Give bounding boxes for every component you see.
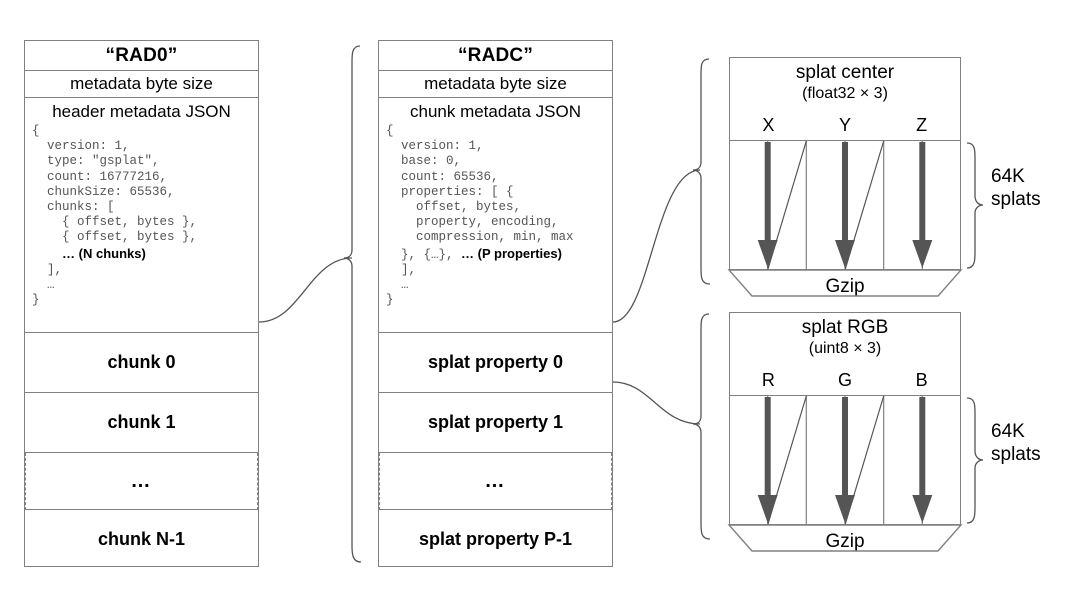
rad0-json-code: { version: 1, type: "gsplat", count: 167… xyxy=(25,124,258,308)
chunk-row-label: splat property 0 xyxy=(428,352,563,373)
rad0-magic-label: “RAD0” xyxy=(106,45,178,67)
rad0-byte-size-label: metadata byte size xyxy=(70,74,213,94)
splat-center-subtitle: (float32 × 3) xyxy=(730,84,960,103)
splat-center-count-line1: 64K xyxy=(991,165,1041,188)
radc-magic-label: “RADC” xyxy=(458,45,533,67)
file-row-label: chunk N-1 xyxy=(98,529,185,550)
splat-rgb-count-line1: 64K xyxy=(991,420,1041,443)
channel-label-z: Z xyxy=(883,115,960,136)
splat-rgb-channel-labels: R G B xyxy=(730,370,960,391)
rad0-byte-size-row: metadata byte size xyxy=(25,71,258,98)
splat-rgb-panel: splat RGB (uint8 × 3) R G B Gzip xyxy=(729,312,961,537)
splat-center-panel: splat center (float32 × 3) X Y Z Gzip xyxy=(729,57,961,282)
splat-center-count-label: 64K splats xyxy=(991,165,1041,211)
chunk-row-ellipsis: … xyxy=(379,453,612,510)
channel-label-y: Y xyxy=(807,115,884,136)
radc-json-block: chunk metadata JSON { version: 1, base: … xyxy=(379,98,612,333)
splat-rgb-header: splat RGB (uint8 × 3) R G B xyxy=(729,312,961,396)
file-row-label: chunk 0 xyxy=(107,352,175,373)
diagram-canvas: “RAD0” metadata byte size header metadat… xyxy=(0,0,1080,608)
splat-center-header: splat center (float32 × 3) X Y Z xyxy=(729,57,961,141)
chunk-row-splat-property-p-1[interactable]: splat property P-1 xyxy=(379,510,612,568)
radc-byte-size-label: metadata byte size xyxy=(424,74,567,94)
splat-rgb-gzip-label: Gzip xyxy=(729,531,961,553)
chunk-row-splat-property-1[interactable]: splat property 1 xyxy=(379,393,612,453)
splat-rgb-count-label: 64K splats xyxy=(991,420,1041,466)
splat-center-title: splat center xyxy=(730,58,960,84)
splat-center-gzip-label: Gzip xyxy=(729,276,961,298)
chunk-row-label: splat property P-1 xyxy=(419,529,572,550)
connector-property0-to-splat-center xyxy=(613,59,710,322)
file-row-label: chunk 1 xyxy=(107,412,175,433)
radc-byte-size-row: metadata byte size xyxy=(379,71,612,98)
file-row-chunk-1[interactable]: chunk 1 xyxy=(25,393,258,453)
radc-json-header: chunk metadata JSON xyxy=(379,102,612,124)
channel-label-b: B xyxy=(883,370,960,391)
splat-center-channel-labels: X Y Z xyxy=(730,115,960,136)
splat-rgb-count-line2: splats xyxy=(991,443,1041,466)
splat-rgb-cell-grid xyxy=(729,396,961,525)
file-row-chunk-n-1[interactable]: chunk N-1 xyxy=(25,510,258,568)
radc-magic-row: “RADC” xyxy=(379,41,612,71)
splat-center-count-line2: splats xyxy=(991,188,1041,211)
channel-label-x: X xyxy=(730,115,807,136)
splat-rgb-count-brace xyxy=(967,398,983,523)
splat-center-cell-grid xyxy=(729,141,961,270)
rad0-json-header: header metadata JSON xyxy=(25,102,258,124)
chunk-row-label: splat property 1 xyxy=(428,412,563,433)
file-row-label: … xyxy=(131,470,153,493)
splat-rgb-title: splat RGB xyxy=(730,313,960,339)
chunk-row-label: … xyxy=(485,470,507,493)
chunk-row-splat-property-0[interactable]: splat property 0 xyxy=(379,333,612,393)
file-row-ellipsis: … xyxy=(25,453,258,510)
channel-label-r: R xyxy=(730,370,807,391)
channel-label-g: G xyxy=(807,370,884,391)
rad0-json-block: header metadata JSON { version: 1, type:… xyxy=(25,98,258,333)
radc-json-code: { version: 1, base: 0, count: 65536, pro… xyxy=(379,124,612,308)
splat-center-count-brace xyxy=(967,143,983,268)
connector-chunk0-to-radc xyxy=(259,46,361,562)
rad0-file-column: “RAD0” metadata byte size header metadat… xyxy=(24,40,259,567)
connector-property1-to-splat-rgb xyxy=(613,314,710,539)
file-row-chunk-0[interactable]: chunk 0 xyxy=(25,333,258,393)
splat-rgb-subtitle: (uint8 × 3) xyxy=(730,339,960,358)
rad0-magic-row: “RAD0” xyxy=(25,41,258,71)
radc-chunk-column: “RADC” metadata byte size chunk metadata… xyxy=(378,40,613,567)
